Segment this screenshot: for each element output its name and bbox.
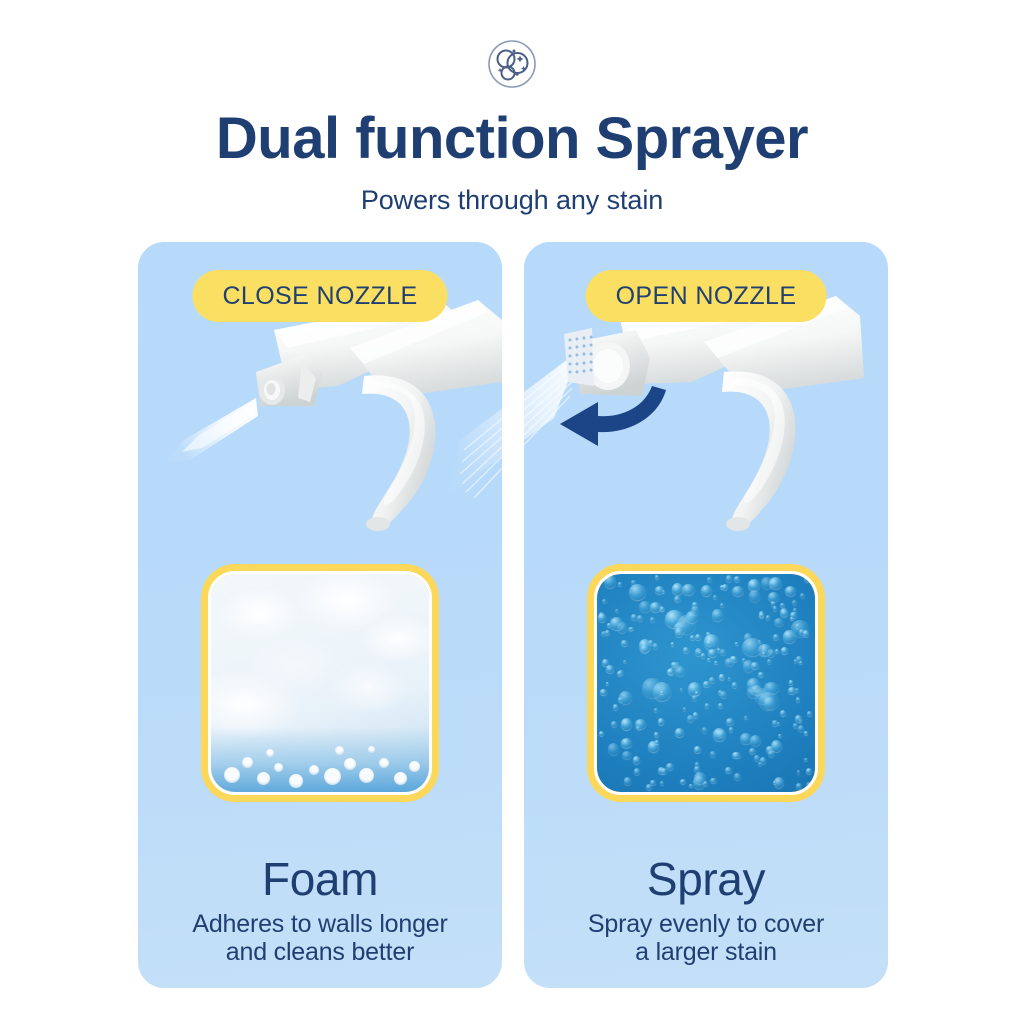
water-droplet (712, 609, 724, 621)
water-droplet (658, 718, 665, 725)
foam-texture-photo (201, 564, 439, 802)
water-droplet (769, 577, 782, 589)
water-droplet (790, 612, 796, 619)
caption-line2-foam: and cleans better (138, 938, 502, 966)
water-droplet (729, 727, 733, 732)
water-droplet (774, 618, 784, 626)
water-droplet (767, 659, 771, 664)
caption-spray: Spray Spray evenly to cover a larger sta… (524, 856, 888, 966)
water-droplet (608, 743, 620, 755)
caption-line1-foam: Adheres to walls longer (138, 910, 502, 938)
water-droplet (806, 782, 813, 788)
water-droplet (702, 727, 707, 733)
page-title: Dual function Sprayer (0, 108, 1024, 169)
water-droplet (675, 728, 684, 736)
water-droplet (796, 783, 803, 789)
water-droplet (742, 638, 763, 656)
photo-image-droplets (597, 574, 815, 792)
water-droplet (725, 767, 732, 774)
water-droplets-photo (587, 564, 825, 802)
water-droplet (720, 649, 726, 655)
water-droplet (792, 600, 797, 605)
water-droplet (751, 662, 759, 669)
water-droplet (726, 718, 734, 725)
photo-image-foam (211, 574, 429, 792)
water-droplet (602, 659, 608, 666)
water-droplet (771, 601, 775, 605)
panel-close-nozzle: CLOSE NOZZLE (138, 242, 502, 988)
water-droplet (689, 784, 693, 787)
water-droplet (708, 649, 717, 657)
water-droplet (640, 645, 649, 653)
water-droplet (666, 763, 674, 770)
water-droplet (789, 680, 793, 684)
water-droplet (780, 603, 785, 607)
water-droplet (621, 738, 632, 748)
water-droplet (601, 631, 607, 636)
water-droplet (777, 722, 780, 725)
water-droplet (710, 778, 717, 784)
water-droplet (631, 614, 638, 620)
caption-title-foam: Foam (138, 856, 502, 902)
water-droplet (800, 593, 805, 598)
water-droplet (610, 617, 623, 631)
water-droplet (707, 577, 712, 583)
water-droplet (698, 650, 701, 653)
water-droplet (660, 691, 664, 694)
water-droplet (639, 601, 651, 612)
water-droplet (600, 689, 606, 695)
water-droplet (606, 665, 614, 673)
water-droplet (773, 781, 776, 784)
water-droplet (636, 726, 641, 730)
water-droplet (713, 595, 717, 599)
water-droplet (633, 756, 641, 764)
photo-frame-left (208, 571, 432, 795)
water-droplet (744, 716, 747, 719)
water-droplet (728, 677, 731, 680)
water-droplet (804, 731, 808, 735)
water-droplet (758, 762, 763, 766)
water-droplet (623, 660, 627, 663)
water-droplet (660, 781, 664, 785)
water-droplet (804, 758, 807, 761)
water-droplet (749, 748, 756, 754)
caption-line1-spray: Spray evenly to cover (524, 910, 888, 938)
water-droplet (806, 768, 812, 774)
water-droplet (655, 740, 659, 743)
water-droplet (655, 575, 659, 578)
badge-open-nozzle: OPEN NOZZLE (586, 270, 827, 322)
water-droplet (710, 751, 715, 757)
water-droplet (598, 613, 606, 622)
water-droplet (613, 704, 619, 710)
water-droplet (797, 770, 801, 774)
water-droplet (624, 777, 632, 785)
water-droplet (796, 624, 799, 628)
water-droplet (682, 584, 695, 595)
water-droplet (671, 642, 674, 646)
water-droplet (680, 779, 686, 784)
water-droplet (720, 691, 727, 698)
water-droplet (759, 692, 778, 710)
panel-open-nozzle: OPEN NOZZLE Spray Spray evenly to cover … (524, 242, 888, 988)
water-droplet (599, 731, 604, 736)
water-droplet (695, 691, 698, 695)
water-droplet (793, 608, 797, 612)
water-droplet (688, 682, 701, 696)
water-droplet (762, 652, 766, 655)
caption-line2-spray: a larger stain (524, 938, 888, 966)
water-droplet (758, 672, 764, 678)
water-droplet (768, 592, 778, 602)
water-droplet (615, 609, 619, 613)
water-droplet (749, 590, 760, 601)
water-droplet (695, 634, 701, 639)
water-droplet (803, 630, 809, 637)
water-droplet (775, 649, 780, 654)
photo-frame-right (594, 571, 818, 795)
water-droplet (654, 708, 658, 712)
water-droplet (771, 740, 782, 752)
water-droplet (795, 688, 800, 693)
water-droplet (705, 703, 710, 707)
water-droplet (780, 710, 787, 716)
water-droplet (674, 596, 681, 602)
water-droplet (785, 586, 796, 596)
water-droplet (807, 711, 813, 716)
caption-foam: Foam Adheres to walls longer and cleans … (138, 856, 502, 966)
water-droplet (622, 751, 632, 759)
badge-close-nozzle: CLOSE NOZZLE (192, 270, 447, 322)
water-droplet (720, 603, 724, 607)
foam-bubble-cluster (211, 574, 429, 792)
water-droplet (621, 718, 632, 730)
water-droplet (654, 732, 659, 737)
water-droplet (713, 728, 725, 741)
water-droplet (703, 681, 710, 687)
water-droplet (734, 773, 741, 780)
water-droplet (804, 575, 810, 582)
water-droplet (748, 579, 760, 591)
water-droplet (796, 697, 800, 702)
caption-title-spray: Spray (524, 856, 888, 902)
water-droplet (680, 688, 683, 691)
water-droplet (725, 658, 734, 666)
water-droplet (683, 647, 688, 653)
comparison-panels: CLOSE NOZZLE (138, 242, 888, 988)
water-droplet (781, 647, 789, 654)
water-droplet (780, 608, 789, 617)
water-droplet (773, 634, 779, 641)
water-droplet (694, 746, 701, 753)
bubbles-circle-logo-icon (486, 38, 538, 90)
water-droplet (653, 643, 659, 649)
water-droplet (619, 691, 632, 704)
water-droplet (634, 768, 640, 775)
water-droplet (629, 584, 646, 601)
water-droplet (692, 695, 697, 700)
water-droplet (799, 661, 803, 664)
water-droplet (650, 617, 655, 622)
water-droplet (604, 575, 617, 588)
water-droplet (621, 640, 628, 646)
water-droplet (766, 615, 770, 620)
water-droplet (687, 715, 694, 722)
water-droplet (707, 658, 710, 662)
water-droplet (735, 642, 738, 645)
water-droplet (701, 585, 712, 596)
water-droplet (618, 582, 622, 586)
water-droplet (734, 576, 740, 582)
water-droplet (628, 627, 633, 631)
water-droplet (683, 707, 686, 710)
water-droplet (709, 677, 715, 683)
water-droplet (722, 584, 729, 591)
water-droplet (642, 678, 663, 698)
water-droplet (695, 762, 700, 767)
water-droplet (726, 575, 733, 582)
water-droplet (798, 725, 804, 732)
droplet-cluster (597, 574, 815, 792)
water-droplet (675, 628, 683, 636)
water-droplet (637, 615, 643, 621)
brand-logo (0, 36, 1024, 92)
water-droplet (706, 640, 712, 646)
water-droplet (617, 671, 622, 676)
water-droplet (750, 735, 761, 746)
water-droplet (606, 682, 609, 685)
water-droplet (602, 599, 607, 603)
water-droplet (788, 687, 795, 693)
water-droplet (714, 661, 718, 665)
water-droplet (661, 768, 667, 774)
water-droplet (794, 659, 797, 663)
water-droplet (778, 734, 781, 737)
water-droplet (718, 703, 723, 708)
water-droplet (773, 606, 778, 611)
water-droplet (732, 586, 744, 596)
water-droplet (650, 780, 656, 785)
water-droplet (598, 575, 603, 580)
water-droplet (732, 752, 740, 759)
water-droplet (732, 682, 737, 688)
page-subtitle: Powers through any stain (0, 185, 1024, 216)
water-droplet (611, 721, 617, 727)
